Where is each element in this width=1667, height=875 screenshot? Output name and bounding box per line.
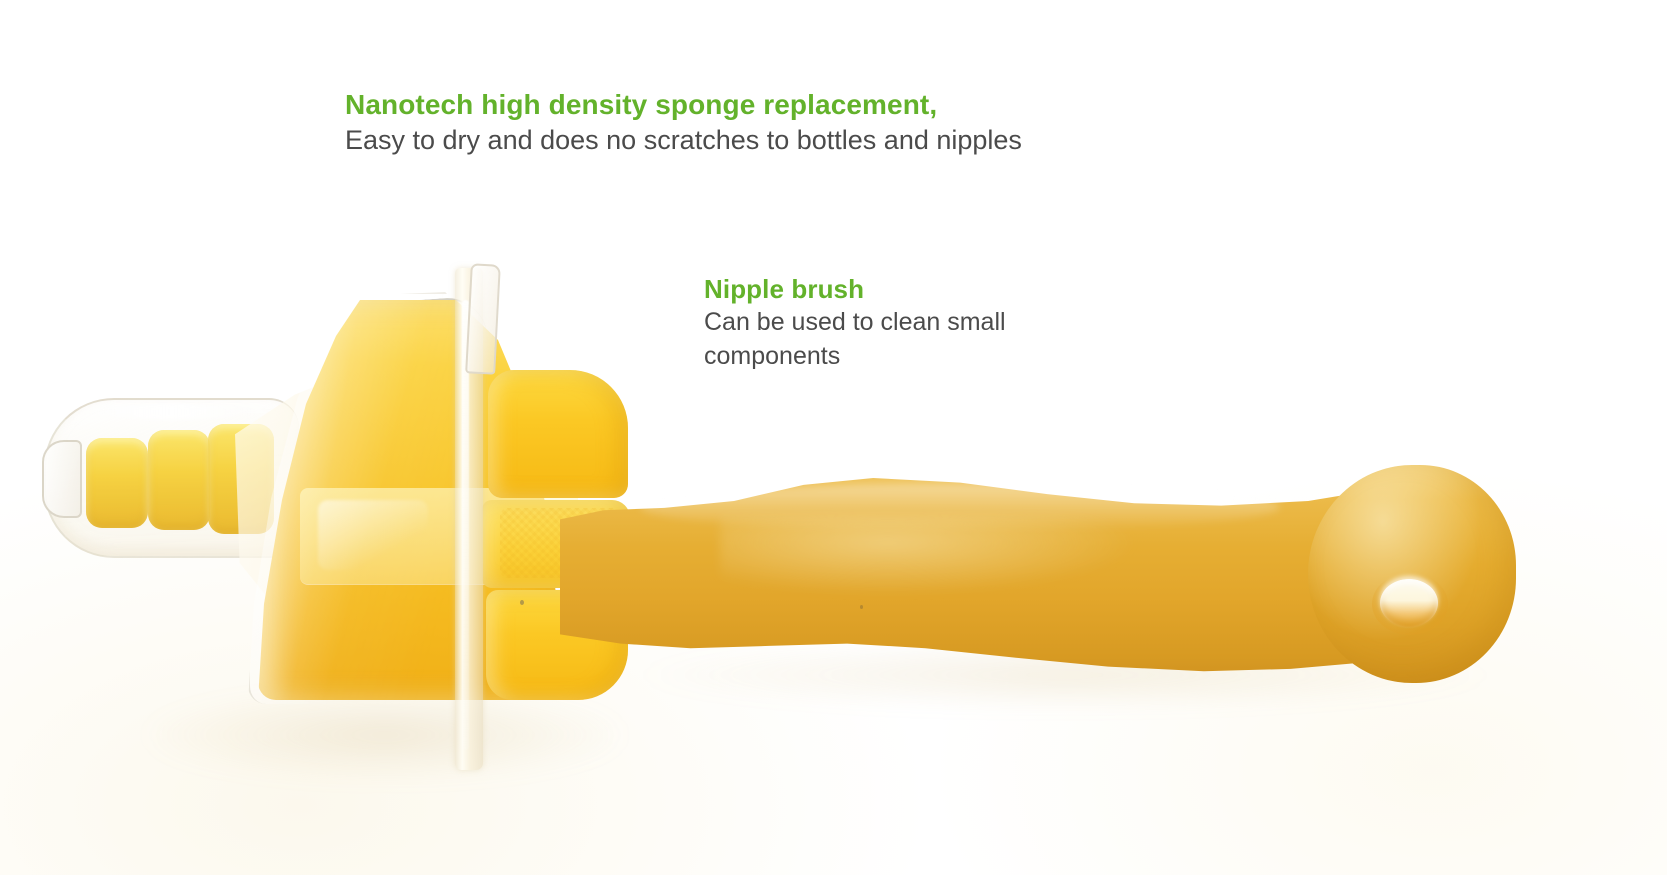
tip-specular-highlight <box>80 404 260 420</box>
callout-nipple-brush: Nipple brush Can be used to clean small … <box>704 273 1006 373</box>
sponge-band-sheen <box>318 500 428 570</box>
callout-sponge-replacement: Nanotech high density sponge replacement… <box>345 88 1022 158</box>
callout-sponge-heading: Nanotech high density sponge replacement… <box>345 88 1022 122</box>
nipple-brush-bristle-segment <box>86 438 148 528</box>
callout-nipple-subtext-line-1: Can be used to clean small <box>704 305 1006 339</box>
handle-speck <box>860 605 863 609</box>
callout-sponge-subtext: Easy to dry and does no scratches to bot… <box>345 122 1022 158</box>
product-feature-image: Nanotech high density sponge replacement… <box>0 0 1667 875</box>
callout-nipple-heading: Nipple brush <box>704 273 1006 305</box>
handle <box>560 455 1540 715</box>
nipple-brush-bristle-segment <box>148 430 210 530</box>
nipple-brush-end-cap <box>42 440 82 518</box>
disc-speck <box>520 600 524 605</box>
disc-top-tab <box>465 263 501 374</box>
handle-soft-sheen <box>720 515 1140 595</box>
callout-nipple-subtext-line-2: components <box>704 339 1006 373</box>
hanging-hole <box>1380 579 1438 627</box>
